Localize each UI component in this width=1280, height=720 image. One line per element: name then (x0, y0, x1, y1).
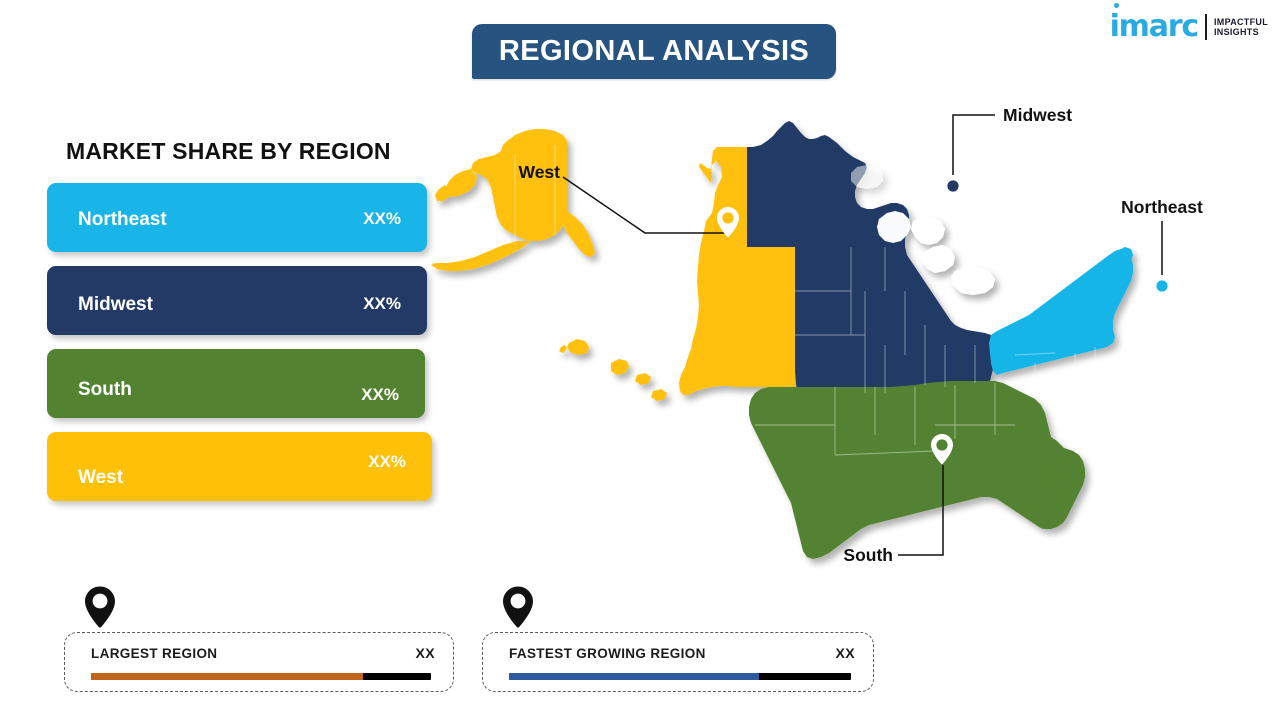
logo-wordmark: imarc (1110, 12, 1198, 42)
panel-title: MARKET SHARE BY REGION (66, 138, 391, 165)
logo-tagline: IMPACTFUL INSIGHTS (1214, 17, 1268, 37)
logo-tagline-line1: IMPACTFUL (1214, 17, 1268, 27)
largest-region-progress-track (91, 673, 431, 680)
page-title: REGIONAL ANALYSIS (499, 35, 809, 68)
market-share-bar-west[interactable]: West XX% (47, 432, 432, 501)
slide-canvas: REGIONAL ANALYSIS imarc IMPACTFUL INSIGH… (0, 0, 1280, 720)
map-pin-midwest[interactable] (942, 175, 964, 205)
page-title-banner: REGIONAL ANALYSIS (472, 24, 836, 79)
map-pin-icon (83, 585, 117, 629)
bar-label: Northeast (78, 209, 167, 231)
imarc-logo: imarc IMPACTFUL INSIGHTS (1110, 12, 1268, 42)
regional-map: West Midwest Northeast South (415, 95, 1280, 585)
market-share-bar-midwest[interactable]: Midwest XX% (47, 266, 427, 335)
map-region-northeast[interactable] (989, 249, 1133, 375)
bar-value: XX% (368, 452, 406, 472)
map-inset-hawaii[interactable] (559, 339, 667, 401)
bar-label: South (78, 379, 132, 401)
footer-card-value: XX (836, 645, 855, 661)
market-share-bar-list: Northeast XX% Midwest XX% South XX% West… (47, 183, 442, 515)
logo-tagline-line2: INSIGHTS (1214, 27, 1268, 37)
map-pin-northeast[interactable] (1151, 275, 1173, 305)
map-label-west: West (519, 162, 561, 182)
fastest-growing-region-card[interactable]: FASTEST GROWING REGION XX (482, 632, 874, 692)
leader-line-midwest (953, 115, 995, 183)
bar-value: XX% (363, 294, 401, 314)
market-share-bar-south[interactable]: South XX% (47, 349, 425, 418)
footer-card-label: LARGEST REGION (91, 646, 217, 661)
map-label-northeast: Northeast (1121, 197, 1203, 217)
leader-line-west (563, 177, 729, 233)
fastest-growing-region-progress-fill (509, 673, 759, 680)
bar-value: XX% (361, 385, 399, 405)
largest-region-progress-fill (91, 673, 363, 680)
logo-wordmark-text: imarc (1110, 9, 1198, 44)
market-share-bar-northeast[interactable]: Northeast XX% (47, 183, 427, 252)
fastest-growing-region-box: FASTEST GROWING REGION XX (482, 632, 874, 692)
largest-region-box: LARGEST REGION XX (64, 632, 454, 692)
map-label-south: South (843, 545, 893, 565)
map-label-midwest: Midwest (1003, 105, 1072, 125)
bar-value: XX% (363, 209, 401, 229)
footer-card-value: XX (416, 645, 435, 661)
bar-label: Midwest (78, 294, 153, 316)
logo-divider (1205, 14, 1207, 40)
logo-dot-icon (1114, 3, 1119, 8)
footer-card-label: FASTEST GROWING REGION (509, 646, 706, 661)
largest-region-card[interactable]: LARGEST REGION XX (64, 632, 454, 692)
map-inset-alaska[interactable] (431, 129, 595, 271)
fastest-growing-region-progress-track (509, 673, 851, 680)
bar-label: West (78, 467, 123, 489)
